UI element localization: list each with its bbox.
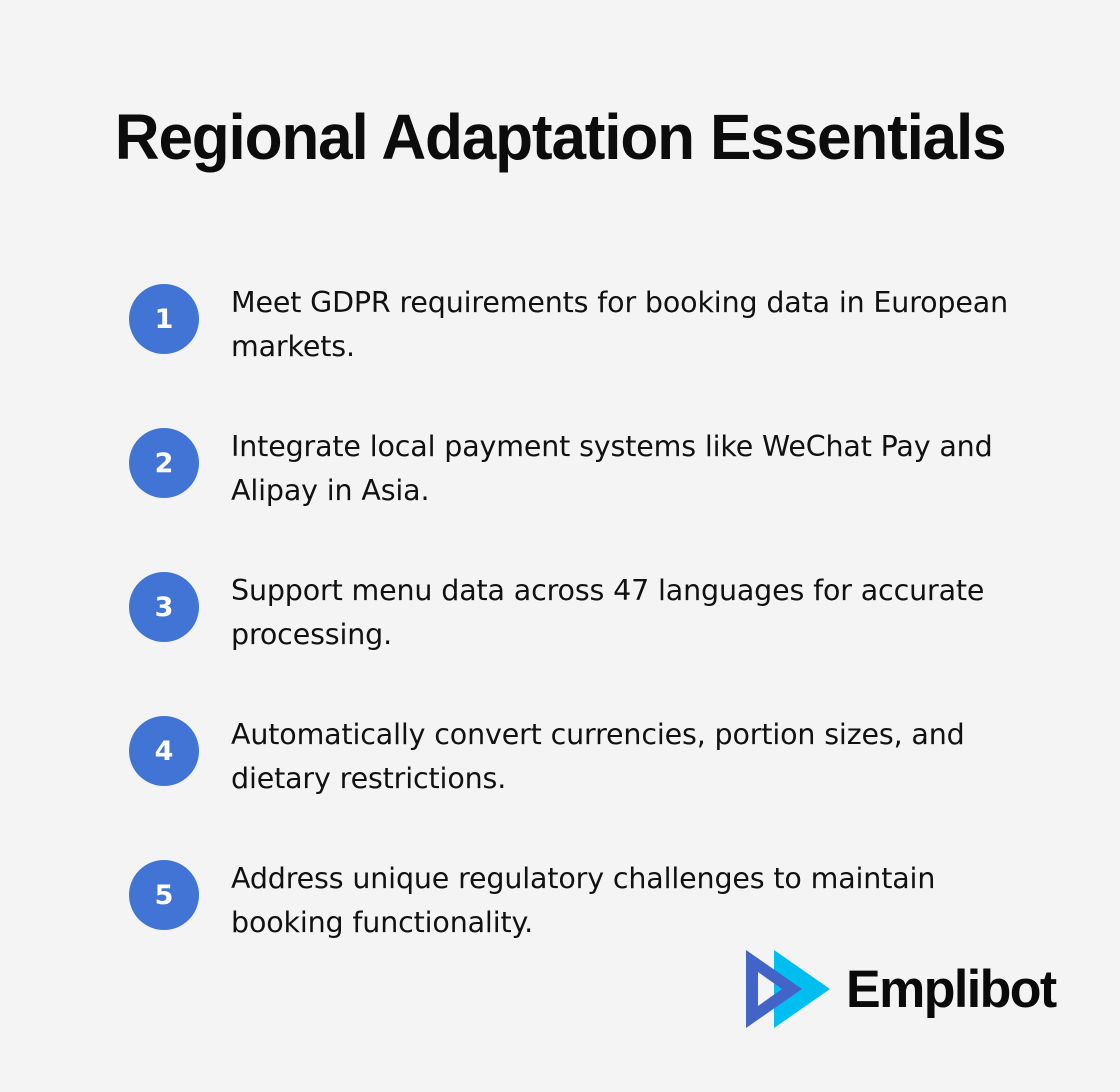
title-container: Regional Adaptation Essentials <box>0 104 1120 171</box>
list-item: 4 Automatically convert currencies, port… <box>129 712 1034 801</box>
list-number-badge: 5 <box>129 860 199 930</box>
double-play-triangle-icon <box>744 948 830 1030</box>
list-item: 1 Meet GDPR requirements for booking dat… <box>129 280 1034 369</box>
list-item: 2 Integrate local payment systems like W… <box>129 424 1034 513</box>
page-title: Regional Adaptation Essentials <box>115 104 1006 171</box>
list-item-text: Meet GDPR requirements for booking data … <box>231 280 1031 369</box>
list-item: 3 Support menu data across 47 languages … <box>129 568 1034 657</box>
list-item-text: Support menu data across 47 languages fo… <box>231 568 1031 657</box>
list-item-text: Integrate local payment systems like WeC… <box>231 424 1031 513</box>
infographic-poster: Regional Adaptation Essentials 1 Meet GD… <box>0 0 1120 1092</box>
list-number-badge: 1 <box>129 284 199 354</box>
brand-logo: Emplibot <box>744 948 1060 1030</box>
logo-wordmark: Emplibot <box>846 963 1056 1016</box>
list-item-text: Address unique regulatory challenges to … <box>231 856 1031 945</box>
list-number-badge: 3 <box>129 572 199 642</box>
list-item: 5 Address unique regulatory challenges t… <box>129 856 1034 945</box>
list-number-badge: 4 <box>129 716 199 786</box>
list-number-badge: 2 <box>129 428 199 498</box>
list-item-text: Automatically convert currencies, portio… <box>231 712 1031 801</box>
numbered-list: 1 Meet GDPR requirements for booking dat… <box>129 280 1034 945</box>
